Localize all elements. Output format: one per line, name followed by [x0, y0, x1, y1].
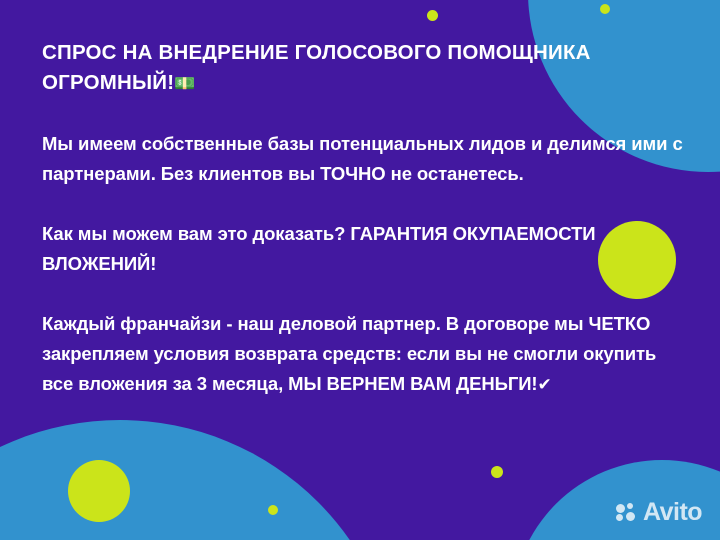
decorative-dot-top-right: [600, 4, 610, 14]
decorative-dot-bottom-center: [491, 466, 503, 478]
spacer-2: [42, 189, 690, 219]
paragraph-leads: Мы имеем собственные базы потенциальных …: [42, 129, 690, 189]
check-mark-icon: ✔: [537, 375, 551, 395]
avito-wordmark: Avito: [643, 500, 702, 525]
decorative-dot-bottom-left: [268, 505, 278, 515]
spacer-3: [42, 279, 690, 309]
avito-watermark: Avito: [616, 500, 702, 525]
paragraph-refund: Каждый франчайзи - наш деловой партнер. …: [42, 309, 690, 400]
poster-text-block: Спрос на внедрение голосового помощника …: [42, 38, 690, 400]
promo-poster: Спрос на внедрение голосового помощника …: [0, 0, 720, 540]
spacer-1: [42, 99, 690, 129]
paragraph-refund-text: Каждый франчайзи - наш деловой партнер. …: [42, 313, 656, 394]
decorative-circle-blue-bottom: [0, 420, 400, 540]
avito-dots-icon: [616, 503, 638, 523]
paragraph-guarantee: Как мы можем вам это доказать? ГАРАНТИЯ …: [42, 219, 690, 279]
decorative-dot-top-center: [427, 10, 438, 21]
money-banknote-icon: 💵: [174, 74, 195, 94]
page-title: Спрос на внедрение голосового помощника …: [42, 38, 690, 99]
headline-text: Спрос на внедрение голосового помощника …: [42, 41, 591, 94]
decorative-circle-yellow-bottomleft: [68, 460, 130, 522]
